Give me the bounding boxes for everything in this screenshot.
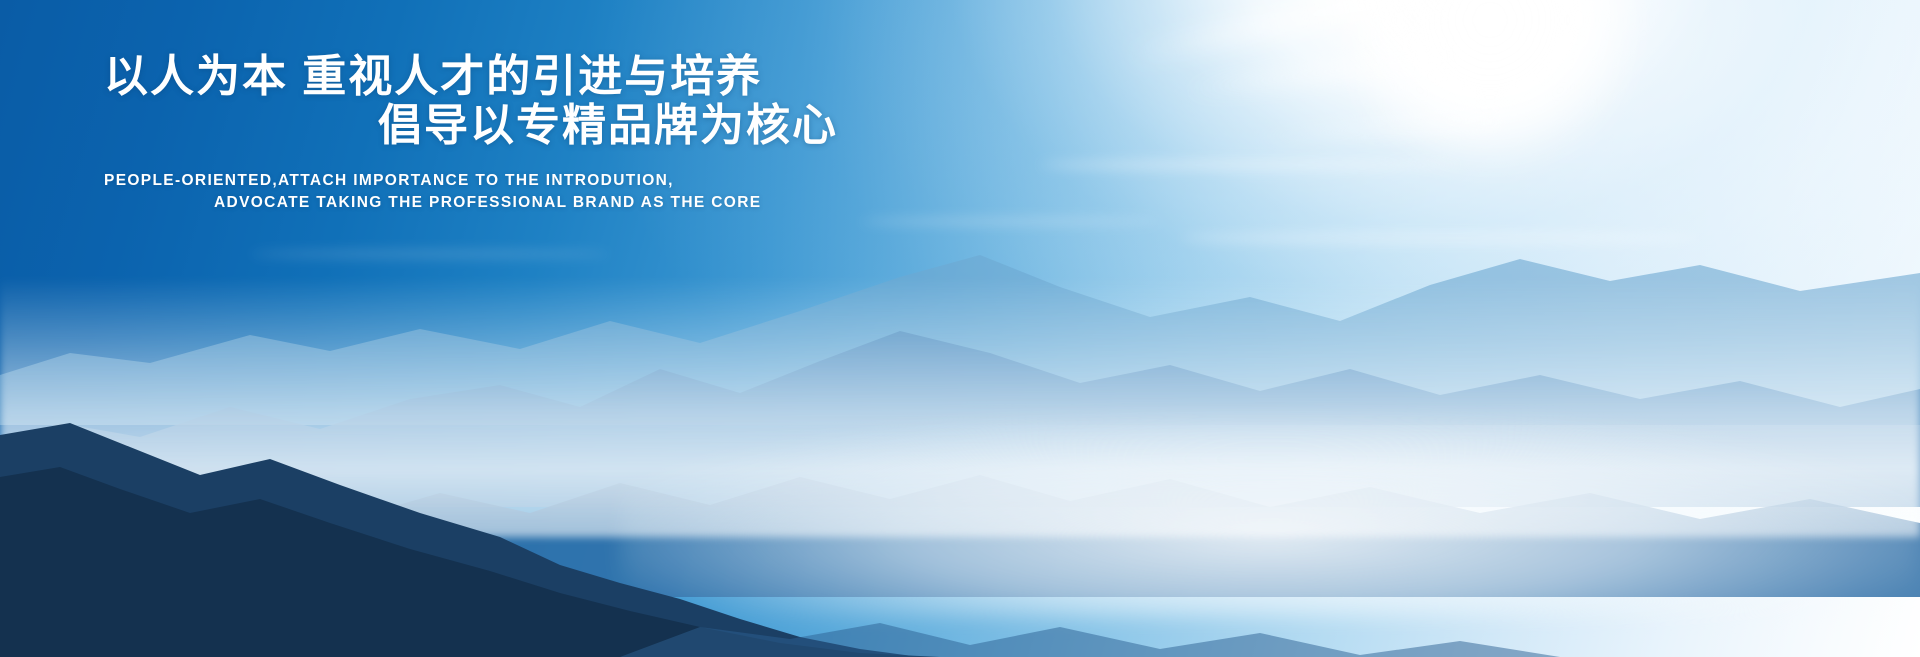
- headline-line-2: 倡导以专精品牌为核心: [104, 101, 1124, 150]
- subtitle-line-1: PEOPLE-ORIENTED,ATTACH IMPORTANCE TO THE…: [104, 170, 1124, 192]
- headline-line-1: 以人为本 重视人才的引进与培养: [104, 52, 1124, 101]
- hero-banner: 以人为本 重视人才的引进与培养 倡导以专精品牌为核心 PEOPLE-ORIENT…: [0, 0, 1920, 657]
- banner-copy: 以人为本 重视人才的引进与培养 倡导以专精品牌为核心 PEOPLE-ORIENT…: [104, 52, 1124, 214]
- subtitle-line-2: ADVOCATE TAKING THE PROFESSIONAL BRAND A…: [104, 192, 1124, 214]
- mountain-ridge-near: [0, 327, 1920, 657]
- cloud-streak: [860, 218, 1160, 225]
